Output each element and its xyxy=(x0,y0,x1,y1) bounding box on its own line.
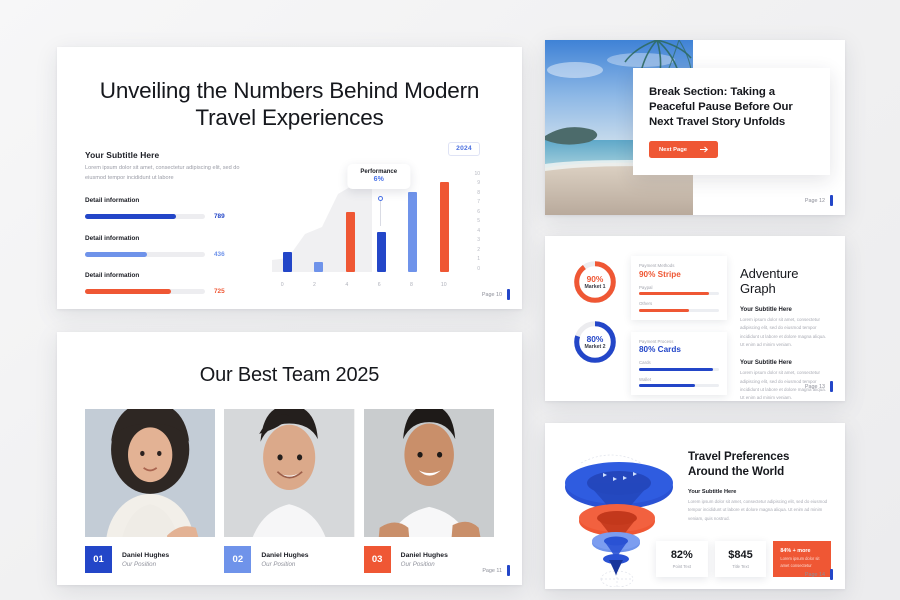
donut-value: 80% xyxy=(587,334,604,344)
list-item[interactable]: 02 Daniel Hughes Our Position xyxy=(224,409,354,573)
chart-tooltip: Performance 6% xyxy=(347,164,410,189)
stat-caption: Lorem ipsum dolor sit amet consectetur xyxy=(780,556,824,569)
detail-label: Detail information xyxy=(85,235,260,242)
slide-deck-preview: Unveiling the Numbers Behind Modern Trav… xyxy=(0,0,900,600)
member-position: Our Position xyxy=(122,561,169,568)
member-name: Daniel Hughes xyxy=(261,552,308,559)
payment-bar-label: Paypal xyxy=(639,285,719,290)
y-tick: 2 xyxy=(477,248,480,253)
donut-chart-group: 90% Market 1 80% Market 2 xyxy=(559,252,631,401)
member-info: 02 Daniel Hughes Our Position xyxy=(224,546,354,573)
page-accent-bar xyxy=(507,289,510,300)
slide-adventure-graph[interactable]: 90% Market 1 80% Market 2 xyxy=(545,236,845,401)
donut-chart: 80% Market 2 xyxy=(571,318,619,366)
payment-card: Payment Methods 90% Stripe Paypal Others xyxy=(631,256,727,320)
detail-row: Detail information 436 xyxy=(85,235,260,264)
page-number: Page 13 xyxy=(805,384,825,390)
detail-progress-track xyxy=(85,289,205,294)
donut-label: Market 1 xyxy=(584,284,605,290)
team-list: 01 Daniel Hughes Our Position xyxy=(57,387,522,573)
page-marker: Page 10 xyxy=(482,289,510,300)
bar xyxy=(314,262,323,272)
bar xyxy=(377,232,386,272)
payment-bar-track xyxy=(639,368,719,371)
bar xyxy=(440,182,449,272)
member-number: 02 xyxy=(224,546,251,573)
donut-value: 90% xyxy=(587,274,604,284)
page-number: Page 12 xyxy=(805,198,825,204)
payment-card-value: 80% Cards xyxy=(639,345,719,354)
x-tick: 6 xyxy=(375,282,384,288)
year-badge: 2024 xyxy=(448,142,480,156)
page-number: Page 14 xyxy=(805,572,825,578)
detail-progress-fill xyxy=(85,252,147,257)
y-tick: 9 xyxy=(477,181,480,186)
block-heading: Your Subtitle Here xyxy=(740,307,831,313)
bar xyxy=(408,192,417,272)
detail-label: Detail information xyxy=(85,197,260,204)
x-tick: 4 xyxy=(342,282,351,288)
stat-card: 82% Point Text xyxy=(656,541,708,577)
y-tick: 1 xyxy=(477,257,480,262)
x-axis-ticks: 0246810 xyxy=(266,282,460,288)
next-page-button[interactable]: Next Page xyxy=(649,141,718,158)
travel-text-panel: Travel Preferences Around the World Your… xyxy=(688,449,831,523)
page-number: Page 10 xyxy=(482,292,502,298)
slide-travel-preferences[interactable]: Travel Preferences Around the World Your… xyxy=(545,423,845,589)
avatar xyxy=(224,409,354,537)
page-title: Adventure Graph xyxy=(740,266,831,296)
donut-label: Market 2 xyxy=(584,344,605,350)
subtitle-paragraph: Lorem ipsum dolor sit amet, consectetur … xyxy=(85,164,260,184)
stat-card: $845 Title Text xyxy=(715,541,767,577)
payment-bar-fill xyxy=(639,368,713,371)
stat-caption: Point Text xyxy=(660,564,704,569)
list-item[interactable]: 01 Daniel Hughes Our Position xyxy=(85,409,215,573)
stat-value: $845 xyxy=(719,549,763,561)
x-tick: 0 xyxy=(278,282,287,288)
subtitle: Your Subtitle Here xyxy=(688,489,831,495)
payment-bar-track xyxy=(639,309,719,312)
detail-value: 789 xyxy=(214,213,225,220)
detail-progress-fill xyxy=(85,214,176,219)
y-tick: 8 xyxy=(477,191,480,196)
payment-bar-fill xyxy=(639,384,695,387)
page-number: Page 11 xyxy=(482,568,502,574)
adventure-text-panel: Adventure Graph Your Subtitle Here Lorem… xyxy=(727,252,831,401)
payment-bar-track xyxy=(639,384,719,387)
member-number: 03 xyxy=(364,546,391,573)
arrow-right-icon xyxy=(700,146,709,153)
member-info: 03 Daniel Hughes Our Position xyxy=(364,546,494,573)
payment-bar-track xyxy=(639,292,719,295)
payment-card-value: 90% Stripe xyxy=(639,270,719,279)
tooltip-point xyxy=(378,196,383,201)
x-tick: 2 xyxy=(310,282,319,288)
text-block: Your Subtitle Here Lorem ipsum dolor sit… xyxy=(740,307,831,349)
y-tick: 6 xyxy=(477,210,480,215)
page-accent-bar xyxy=(507,565,510,576)
subtitle: Your Subtitle Here xyxy=(85,150,260,160)
x-tick: 10 xyxy=(439,282,448,288)
detail-row: Detail information 789 xyxy=(85,197,260,226)
y-tick: 3 xyxy=(477,238,480,243)
detail-value: 436 xyxy=(214,251,225,258)
member-position: Our Position xyxy=(401,561,448,568)
donut-chart: 90% Market 1 xyxy=(571,258,619,306)
page-title: Our Best Team 2025 xyxy=(57,332,522,387)
payment-bar-fill xyxy=(639,309,689,312)
y-tick: 7 xyxy=(477,200,480,205)
page-accent-bar xyxy=(830,569,833,580)
slide-break-section[interactable]: Break Section: Taking a Peaceful Pause B… xyxy=(545,40,845,215)
stat-caption: Title Text xyxy=(719,564,763,569)
detail-progress-fill xyxy=(85,289,171,294)
tooltip-value: 6% xyxy=(360,176,397,183)
detail-row: Detail information 725 xyxy=(85,272,260,301)
stat-value: 84% + more xyxy=(780,548,824,554)
payment-bar-label: Wallet xyxy=(639,377,719,382)
payment-bar-fill xyxy=(639,292,709,295)
member-info: 01 Daniel Hughes Our Position xyxy=(85,546,215,573)
detail-bar-group: Detail information 789 Detail informatio… xyxy=(85,197,260,301)
page-title: Travel Preferences Around the World xyxy=(688,449,831,479)
page-title: Unveiling the Numbers Behind Modern Trav… xyxy=(57,47,522,132)
member-position: Our Position xyxy=(261,561,308,568)
payment-bar-label: Others xyxy=(639,301,719,306)
y-axis-ticks: 109876543210 xyxy=(474,172,480,272)
paragraph: Lorem ipsum dolor sit amet, consectetur … xyxy=(688,498,831,523)
detail-value: 725 xyxy=(214,288,225,295)
member-name: Daniel Hughes xyxy=(401,552,448,559)
stat-value: 82% xyxy=(660,549,704,561)
avatar xyxy=(364,409,494,537)
payment-card-group: Payment Methods 90% Stripe Paypal Others… xyxy=(631,252,727,401)
detail-label: Detail information xyxy=(85,272,260,279)
x-tick: 8 xyxy=(407,282,416,288)
detail-progress-track xyxy=(85,252,205,257)
list-item[interactable]: 03 Daniel Hughes Our Position xyxy=(364,409,494,573)
payment-card-key: Payment Process xyxy=(639,339,719,344)
page-accent-bar xyxy=(830,195,833,206)
y-tick: 10 xyxy=(474,172,480,177)
member-name: Daniel Hughes xyxy=(122,552,169,559)
y-tick: 4 xyxy=(477,229,480,234)
page-marker: Page 13 xyxy=(805,381,833,392)
block-paragraph: Lorem ipsum dolor sit amet, consectetur … xyxy=(740,316,831,349)
slide-chart[interactable]: Unveiling the Numbers Behind Modern Trav… xyxy=(57,47,522,309)
payment-bar-label: Cards xyxy=(639,360,719,365)
bar xyxy=(283,252,292,272)
page-marker: Page 12 xyxy=(805,195,833,206)
page-title: Break Section: Taking a Peaceful Pause B… xyxy=(649,85,814,130)
page-marker: Page 11 xyxy=(482,565,510,576)
block-heading: Your Subtitle Here xyxy=(740,360,831,366)
page-accent-bar xyxy=(830,381,833,392)
slide-chart-body: Your Subtitle Here Lorem ipsum dolor sit… xyxy=(57,132,522,309)
member-number: 01 xyxy=(85,546,112,573)
slide-team[interactable]: Our Best Team 2025 xyxy=(57,332,522,585)
break-card: Break Section: Taking a Peaceful Pause B… xyxy=(633,68,830,175)
chart-side-panel: Your Subtitle Here Lorem ipsum dolor sit… xyxy=(85,150,260,309)
detail-progress-track xyxy=(85,214,205,219)
y-tick: 0 xyxy=(477,267,480,272)
bar xyxy=(346,212,355,272)
next-page-label: Next Page xyxy=(659,147,687,153)
payment-card: Payment Process 80% Cards Cards Wallet xyxy=(631,332,727,396)
avatar xyxy=(85,409,215,537)
bar-chart: 2024 Performance 6% 109876543210 0246810 xyxy=(266,150,494,290)
payment-card-key: Payment Methods xyxy=(639,263,719,268)
tooltip-label: Performance xyxy=(360,169,397,175)
y-tick: 5 xyxy=(477,219,480,224)
page-marker: Page 14 xyxy=(805,569,833,580)
